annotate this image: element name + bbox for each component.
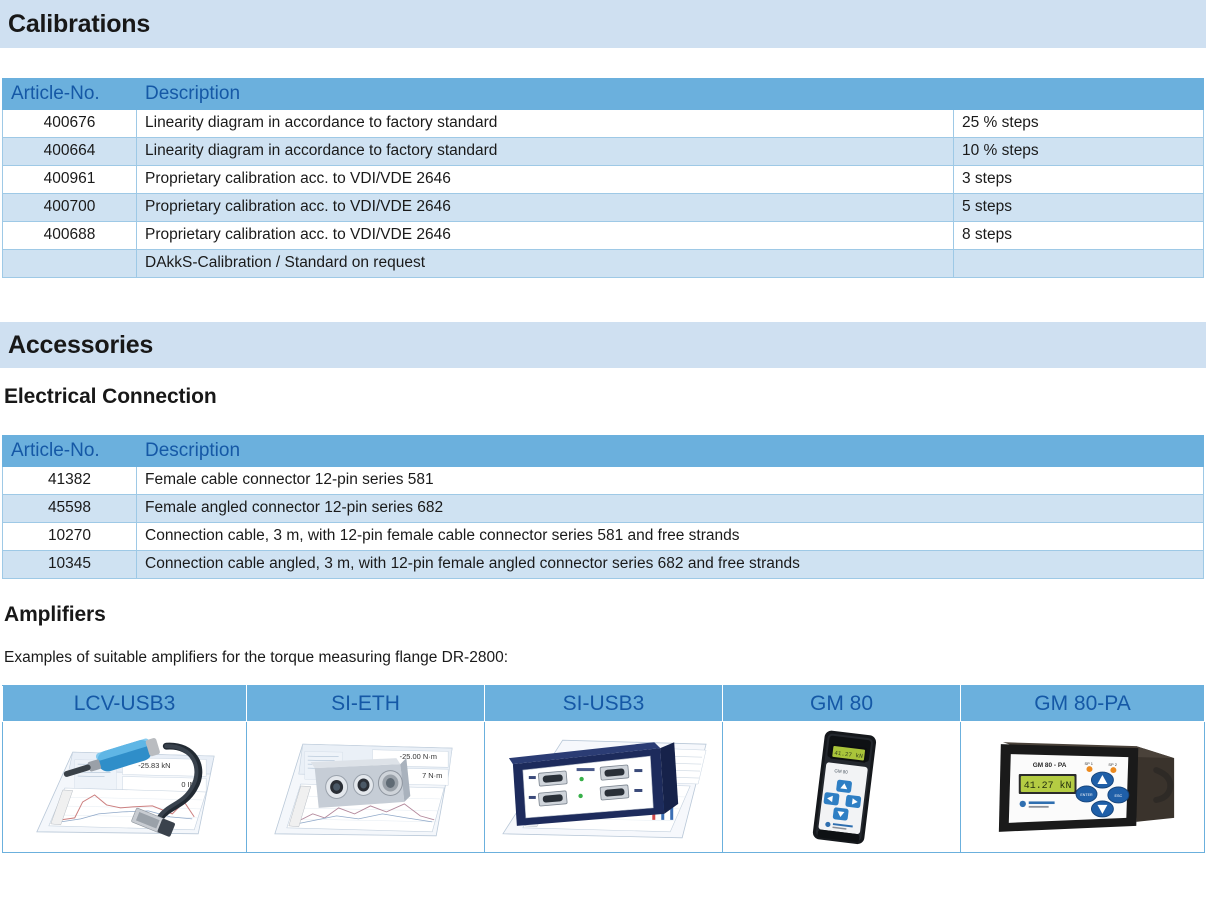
column-header-description: Description: [137, 79, 954, 110]
amplifier-image-row: -25.83 kN 0 IN: [3, 722, 1205, 853]
cell-steps: 10 % steps: [954, 138, 1204, 166]
amplifier-header-si-eth: SI-ETH: [247, 686, 485, 722]
cell-article-no: 45598: [3, 495, 137, 523]
spacer: [0, 409, 1206, 435]
cell-article-no: 400688: [3, 222, 137, 250]
amplifier-header-lcv-usb3: LCV-USB3: [3, 686, 247, 722]
cell-article-no: 400676: [3, 110, 137, 138]
column-header-article-no: Article-No.: [3, 79, 137, 110]
cell-description: Female cable connector 12-pin series 581: [137, 467, 1204, 495]
spacer: [0, 368, 1206, 385]
amplifiers-intro-text: Examples of suitable amplifiers for the …: [0, 649, 1206, 667]
table-row: 400664 Linearity diagram in accordance t…: [3, 138, 1204, 166]
cell-steps: [954, 250, 1204, 278]
amplifier-header-gm-80-pa: GM 80-PA: [961, 686, 1205, 722]
cell-description: Proprietary calibration acc. to VDI/VDE …: [137, 222, 954, 250]
table-row: 400961 Proprietary calibration acc. to V…: [3, 166, 1204, 194]
amplifier-header-gm-80: GM 80: [723, 686, 961, 722]
table-row: 400688 Proprietary calibration acc. to V…: [3, 222, 1204, 250]
table-row: DAkkS-Calibration / Standard on request: [3, 250, 1204, 278]
svg-text:7 N·m: 7 N·m: [422, 771, 442, 780]
cell-article-no: 10270: [3, 523, 137, 551]
electrical-connection-table: Article-No. Description 41382 Female cab…: [2, 435, 1204, 579]
si-usb3-product-photo: [485, 722, 722, 852]
spacer: [0, 667, 1206, 685]
table-row: 41382 Female cable connector 12-pin seri…: [3, 467, 1204, 495]
document-page: Calibrations Article-No. Description 400…: [0, 0, 1206, 912]
table-row: 400676 Linearity diagram in accordance t…: [3, 110, 1204, 138]
cell-article-no: 41382: [3, 467, 137, 495]
svg-text:GM 80 - PA: GM 80 - PA: [1033, 762, 1067, 769]
amplifier-header-row: LCV-USB3 SI-ETH SI-USB3 GM 80 GM 80-PA: [3, 686, 1205, 722]
cell-description: Connection cable, 3 m, with 12-pin femal…: [137, 523, 1204, 551]
page-title: Calibrations: [8, 10, 150, 39]
calibrations-table: Article-No. Description 400676 Linearity…: [2, 78, 1204, 278]
spacer: [0, 48, 1206, 78]
cell-steps: 8 steps: [954, 222, 1204, 250]
section-bar-calibrations: Calibrations: [0, 0, 1206, 48]
amplifier-header-si-usb3: SI-USB3: [485, 686, 723, 722]
cell-description: Proprietary calibration acc. to VDI/VDE …: [137, 194, 954, 222]
column-header-article-no: Article-No.: [3, 436, 137, 467]
table-header-row: Article-No. Description: [3, 436, 1204, 467]
table-header-row: Article-No. Description: [3, 79, 1204, 110]
svg-text:-25.83 kN: -25.83 kN: [138, 761, 170, 770]
amplifier-cell-si-eth: -25.00 N·m 7 N·m: [247, 722, 485, 853]
svg-text:41.27 kN: 41.27 kN: [1024, 780, 1072, 791]
svg-text:SP 2: SP 2: [1108, 762, 1117, 767]
spacer: [0, 278, 1206, 322]
cell-description: Linearity diagram in accordance to facto…: [137, 110, 954, 138]
svg-text:SP 1: SP 1: [1084, 761, 1093, 766]
cell-steps: 5 steps: [954, 194, 1204, 222]
cell-article-no: 400664: [3, 138, 137, 166]
amplifier-cell-gm-80: 41.27 kN GM 80: [723, 722, 961, 853]
amplifiers-gallery-table: LCV-USB3 SI-ETH SI-USB3 GM 80 GM 80-PA -…: [2, 685, 1205, 853]
table-row: 10345 Connection cable angled, 3 m, with…: [3, 551, 1204, 579]
cell-description: Female angled connector 12-pin series 68…: [137, 495, 1204, 523]
amplifier-cell-si-usb3: [485, 722, 723, 853]
gm-80-product-photo: 41.27 kN GM 80: [723, 722, 960, 852]
spacer: [0, 579, 1206, 603]
amplifier-cell-lcv-usb3: -25.83 kN 0 IN: [3, 722, 247, 853]
section-title-accessories: Accessories: [8, 331, 153, 360]
si-eth-product-photo: -25.00 N·m 7 N·m: [247, 722, 484, 852]
cell-article-no: [3, 250, 137, 278]
cell-description: Connection cable angled, 3 m, with 12-pi…: [137, 551, 1204, 579]
sub-heading-electrical-connection: Electrical Connection: [0, 385, 1206, 409]
table-row: 400700 Proprietary calibration acc. to V…: [3, 194, 1204, 222]
cell-description: Proprietary calibration acc. to VDI/VDE …: [137, 166, 954, 194]
cell-description: Linearity diagram in accordance to facto…: [137, 138, 954, 166]
cell-steps: 25 % steps: [954, 110, 1204, 138]
table-row: 10270 Connection cable, 3 m, with 12-pin…: [3, 523, 1204, 551]
cell-article-no: 10345: [3, 551, 137, 579]
svg-text:ENTER: ENTER: [1080, 793, 1093, 797]
lcv-usb3-product-photo: -25.83 kN 0 IN: [3, 722, 246, 852]
cell-article-no: 400961: [3, 166, 137, 194]
sub-heading-amplifiers: Amplifiers: [0, 603, 1206, 627]
section-bar-accessories: Accessories: [0, 322, 1206, 368]
column-header-steps: [954, 79, 1204, 110]
table-row: 45598 Female angled connector 12-pin ser…: [3, 495, 1204, 523]
column-header-description: Description: [137, 436, 1204, 467]
cell-steps: 3 steps: [954, 166, 1204, 194]
cell-article-no: 400700: [3, 194, 137, 222]
amplifier-cell-gm-80-pa: GM 80 - PA 41.27 kN SP 1 SP 2: [961, 722, 1205, 853]
svg-text:ESC: ESC: [1114, 794, 1122, 798]
cell-description: DAkkS-Calibration / Standard on request: [137, 250, 954, 278]
spacer: [0, 627, 1206, 649]
gm-80-pa-product-photo: GM 80 - PA 41.27 kN SP 1 SP 2: [961, 722, 1204, 852]
